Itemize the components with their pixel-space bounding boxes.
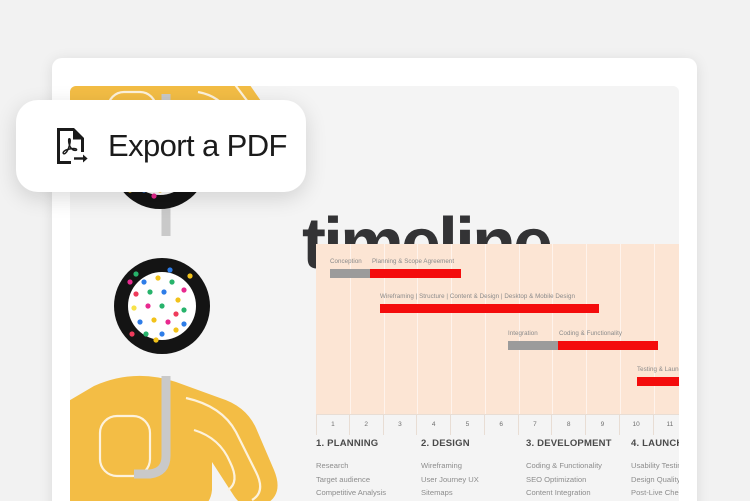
phase-column-planning: 1. PLANNING Research Target audience Com… [316, 438, 421, 501]
axis-tick: 9 [586, 415, 620, 435]
phase-title: 2. DESIGN [421, 438, 526, 449]
export-pdf-button[interactable]: Export a PDF [16, 100, 306, 192]
glasses-lens-bottom [114, 258, 210, 354]
pdf-export-icon [54, 126, 90, 166]
axis-tick: 11 [654, 415, 680, 435]
axis-tick: 8 [552, 415, 586, 435]
gantt-task-label: Integration [508, 330, 538, 338]
gantt-row: Wireframing | Structure | Content & Desi… [316, 293, 679, 327]
phase-item: Post-Live Checks [631, 486, 679, 500]
phase-item: Research [316, 459, 421, 473]
lower-hand-shape [70, 376, 278, 501]
phase-item: Content Integration [526, 486, 631, 500]
gantt-task-label: Wireframing | Structure | Content & Desi… [380, 293, 575, 301]
phase-item: Usability Testing [631, 459, 679, 473]
axis-tick: 4 [417, 415, 451, 435]
axis-tick: 6 [485, 415, 519, 435]
gantt-bar-planned[interactable] [330, 269, 371, 278]
axis-tick: 10 [620, 415, 654, 435]
gantt-bar-active[interactable] [370, 269, 461, 278]
phase-column-development: 3. DEVELOPMENT Coding & Functionality SE… [526, 438, 631, 501]
phase-title: 1. PLANNING [316, 438, 421, 449]
phase-item: SEO Optimization [526, 473, 631, 487]
gantt-chart: Conception Planning & Scope Agreement Wi… [316, 244, 679, 414]
phase-columns: 1. PLANNING Research Target audience Com… [316, 438, 679, 501]
axis-tick: 5 [451, 415, 485, 435]
phase-item: Wireframing [421, 459, 526, 473]
phase-item: Competitive Analysis [316, 486, 421, 500]
phase-title: 4. LAUNCH [631, 438, 679, 449]
phase-title: 3. DEVELOPMENT [526, 438, 631, 449]
axis-tick: 7 [519, 415, 553, 435]
axis-tick: 3 [384, 415, 418, 435]
phase-item: Design Quality Check [631, 473, 679, 487]
gantt-row: Integration Coding & Functionality [316, 330, 679, 364]
phase-column-launch: 4. LAUNCH Usability Testing Design Quali… [631, 438, 679, 501]
phase-item: Coding & Functionality [526, 459, 631, 473]
axis-tick: 2 [350, 415, 384, 435]
gantt-task-label: Testing & Launch [637, 366, 679, 374]
export-pdf-label: Export a PDF [108, 128, 287, 164]
gantt-task-label: Coding & Functionality [559, 330, 622, 338]
phase-item: Target audience [316, 473, 421, 487]
phase-item: Sitemaps [421, 486, 526, 500]
gantt-axis: 1 2 3 4 5 6 7 8 9 10 11 12 [316, 414, 679, 434]
gantt-task-label: Conception [330, 258, 362, 266]
gantt-bar-active[interactable] [558, 341, 658, 350]
gantt-row: Testing & Launch [316, 366, 679, 400]
gantt-bar-active[interactable] [380, 304, 599, 313]
axis-tick: 1 [316, 415, 350, 435]
gantt-bar-planned[interactable] [508, 341, 558, 350]
gantt-task-label: Planning & Scope Agreement [372, 258, 454, 266]
phase-column-design: 2. DESIGN Wireframing User Journey UX Si… [421, 438, 526, 501]
phase-item: User Journey UX [421, 473, 526, 487]
gantt-row: Conception Planning & Scope Agreement [316, 258, 679, 292]
gantt-bar-active[interactable] [637, 377, 679, 386]
